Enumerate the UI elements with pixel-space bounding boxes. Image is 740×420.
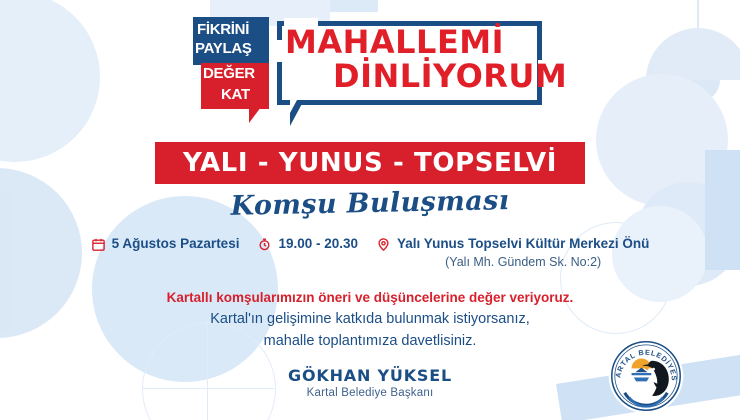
event-date-text: 5 Ağustos Pazartesi: [112, 236, 240, 253]
campaign-tag-line-1: FİKRİNİ: [197, 22, 249, 37]
event-place-name: Yalı Yunus Topselvi Kültür Merkezi Önü: [397, 236, 649, 251]
speech-bubble-tail-inner: [290, 100, 297, 113]
headline-line-1: MAHALLEMİ: [285, 26, 504, 58]
campaign-tag-line-3: DEĞER: [203, 66, 255, 81]
event-info-row: 5 Ağustos Pazartesi 19.00 - 20.30: [0, 236, 740, 271]
subtitle-script: Komşu Buluşması: [0, 180, 740, 226]
event-place-address: (Yalı Mh. Gündem Sk. No:2): [397, 255, 649, 271]
decor-lamp-cord: [697, 0, 699, 30]
calendar-icon: [91, 237, 106, 252]
campaign-tag-tail: [249, 107, 261, 123]
headline-line-2: DİNLİYORUM: [333, 60, 567, 92]
speech-bubble-gap-left: [274, 40, 283, 62]
campaign-tag: FİKRİNİ PAYLAŞ DEĞER KAT: [193, 17, 269, 119]
decor-lamp-bulb: [676, 80, 720, 102]
campaign-tag-line-4: KAT: [221, 87, 250, 102]
kartal-belediyesi-logo: KARTAL BELEDİYESİ: [608, 338, 684, 414]
event-place: Yalı Yunus Topselvi Kültür Merkezi Önü (…: [376, 236, 649, 271]
invitation-line-2: Kartal'ın gelişimine katkıda bulunmak is…: [0, 309, 740, 331]
event-time-text: 19.00 - 20.30: [278, 236, 358, 253]
poster-canvas: FİKRİNİ PAYLAŞ DEĞER KAT MAHALLEMİ DİNLİ…: [0, 0, 740, 420]
clock-icon: [257, 237, 272, 252]
campaign-tag-line-2: PAYLAŞ: [195, 41, 252, 56]
event-time: 19.00 - 20.30: [257, 236, 358, 253]
invitation-line-1: Kartallı komşularımızın öneri ve düşünce…: [0, 288, 740, 309]
decor-square-top-2: [330, 0, 378, 12]
event-place-text: Yalı Yunus Topselvi Kültür Merkezi Önü (…: [397, 236, 649, 271]
event-date: 5 Ağustos Pazartesi: [91, 236, 240, 253]
decor-circle-top-left: [0, 0, 100, 162]
neighborhood-banner-text: YALI - YUNUS - TOPSELVİ: [183, 148, 557, 178]
decor-lamp-shade: [646, 28, 740, 80]
neighborhood-banner: YALI - YUNUS - TOPSELVİ: [155, 142, 585, 184]
location-pin-icon: [376, 237, 391, 252]
